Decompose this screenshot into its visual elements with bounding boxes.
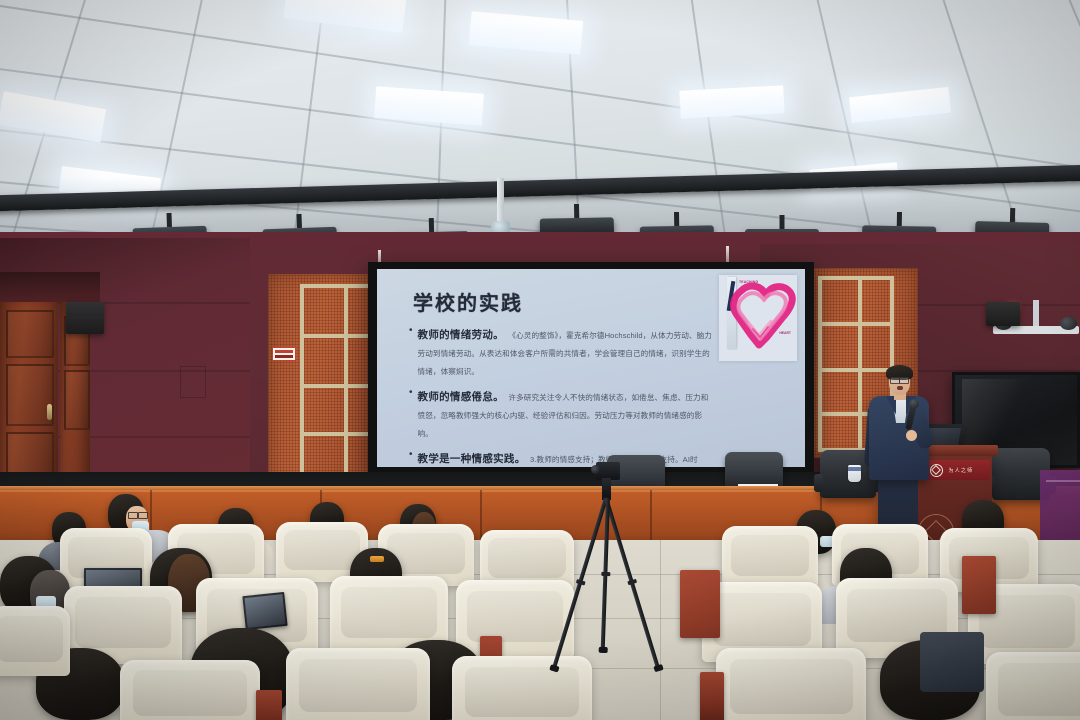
projection-screen-frame: 学校的实践 • 教师的情绪劳动。 《心灵的整饰》，霍克希尔德Hochschild… — [368, 262, 814, 474]
audience-seat[interactable] — [716, 648, 866, 720]
audience-seat[interactable] — [452, 656, 592, 720]
camera-pole — [1033, 300, 1039, 326]
pink-heart-brushstroke-card: TEACHING HEART — [719, 275, 797, 361]
hair-clip — [370, 556, 384, 562]
slide-bullet: • 教师的情感倦怠。 许多研究关注令人不快的情绪状态，如倦怠、焦虑、压力和愤怒，… — [409, 387, 713, 441]
heart-caption-top: TEACHING — [739, 280, 758, 284]
bullet-lead: 教师的情绪劳动。 — [418, 329, 504, 341]
audience-seat[interactable] — [286, 648, 430, 720]
presenter-glasses-icon — [890, 377, 909, 382]
seat-frame — [256, 690, 282, 720]
heart-caption-bottom: HEART — [779, 331, 791, 335]
audience-seat[interactable] — [0, 606, 70, 676]
bullet-text: 教师的情感倦怠。 许多研究关注令人不快的情绪状态，如倦怠、焦虑、压力和愤怒，忽略… — [418, 387, 713, 441]
audience-seat[interactable] — [456, 580, 574, 658]
slide-bullet-list: • 教师的情绪劳动。 《心灵的整饰》，霍克希尔德Hochschild，从体力劳动… — [409, 325, 713, 467]
audience-seat[interactable] — [986, 652, 1080, 720]
podium-text-right: 为人之师 — [949, 467, 974, 474]
audience-seat[interactable] — [120, 660, 260, 720]
paper-cup — [848, 465, 861, 482]
bullet-dot: • — [409, 325, 413, 379]
door-header-shadow — [0, 272, 100, 302]
slide-bullet: • 教学是一种情感实践。 3.教师的情感支持；教师对学生的情绪支持。AI时代，教… — [409, 449, 713, 467]
bullet-text: 教学是一种情感实践。 3.教师的情感支持；教师对学生的情绪支持。AI时代，教师不… — [418, 449, 713, 467]
bullet-dot: • — [409, 449, 413, 467]
wall-speaker — [66, 302, 104, 334]
wall-speaker-right — [986, 302, 1020, 326]
projection-screen: 学校的实践 • 教师的情绪劳动。 《心灵的整饰》，霍克希尔德Hochschild… — [377, 269, 805, 467]
presenter-mouth — [897, 386, 903, 390]
presenter-hand — [906, 430, 917, 441]
bullet-lead: 教学是一种情感实践。 — [418, 453, 526, 465]
wall-notice-sign — [272, 347, 296, 361]
panel-chair — [725, 452, 783, 488]
glasses-icon — [128, 512, 148, 517]
ptz-camera-mount — [993, 326, 1079, 334]
lecture-hall-photo: 学校的实践 • 教师的情绪劳动。 《心灵的整饰》，霍克希尔德Hochschild… — [0, 0, 1080, 720]
tablet[interactable] — [242, 592, 287, 630]
heart-icon — [719, 275, 797, 361]
audience-seat[interactable] — [722, 526, 818, 588]
slide-bullet: • 教师的情绪劳动。 《心灵的整饰》，霍克希尔德Hochschild，从体力劳动… — [409, 325, 713, 379]
slide-title: 学校的实践 — [413, 287, 523, 316]
sprinkler-head — [497, 178, 504, 224]
bullet-lead: 教师的情感倦怠。 — [418, 391, 504, 403]
ceiling-light-panel — [679, 85, 784, 118]
seat-frame — [700, 672, 724, 720]
fold-down-desk — [680, 570, 720, 638]
fold-down-desk — [962, 556, 996, 614]
bullet-dot: • — [409, 387, 413, 441]
backpack — [920, 632, 984, 692]
bullet-text: 教师的情绪劳动。 《心灵的整饰》，霍克希尔德Hochschild，从体力劳动、脑… — [418, 325, 713, 379]
school-seal-icon — [930, 464, 943, 477]
